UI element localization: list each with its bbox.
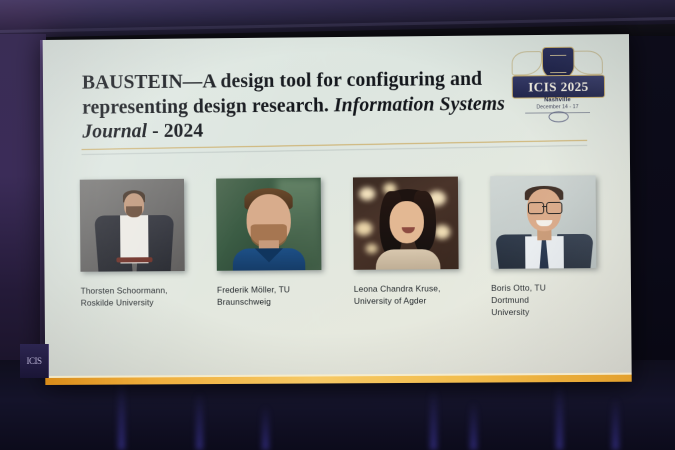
author-name: Leona Chandra Kruse,	[354, 282, 459, 295]
drape-light-streak	[196, 392, 203, 450]
logo-swirl-icon	[548, 111, 568, 122]
logo-banner: ICIS 2025	[512, 75, 605, 99]
logo-flourish-right-icon	[572, 50, 603, 74]
photo-shape	[120, 215, 148, 263]
photo-shape	[528, 202, 544, 214]
title-line-2-italic: Information Systems	[334, 93, 505, 116]
photo-shape	[126, 206, 142, 217]
title-line-3-italic: Journal	[82, 121, 147, 143]
author-caption: Boris Otto, TU Dortmund University	[491, 281, 597, 318]
author-photo	[490, 175, 596, 268]
photo-shape	[355, 221, 372, 235]
title-line-2-plain: representing design research.	[82, 95, 334, 118]
author-card: Leona Chandra Kruse, University of Agder	[353, 177, 459, 307]
photo-scene: BAUSTEIN—A design tool for configuring a…	[0, 0, 675, 450]
icis-conference-logo: ICIS 2025 Nashville December 14 - 17	[511, 46, 603, 121]
author-affiliation: Roskilde University	[81, 296, 185, 309]
photo-shape	[359, 187, 375, 200]
author-row: Thorsten Schoormann, Roskilde University	[80, 175, 597, 364]
drape-light-streak	[118, 380, 125, 450]
slide-title: BAUSTEIN—A design tool for configuring a…	[82, 67, 541, 145]
drape-light-streak	[470, 402, 477, 450]
author-caption: Frederik Möller, TU Braunschweig	[217, 283, 322, 308]
author-card: Boris Otto, TU Dortmund University	[490, 175, 596, 318]
icis-watermark-panel: ICIS	[20, 344, 49, 378]
author-card: Frederik Möller, TU Braunschweig	[216, 178, 322, 308]
slide-canvas: BAUSTEIN—A design tool for configuring a…	[43, 34, 632, 385]
title-line-3-plain: - 2024	[147, 121, 203, 143]
author-photo	[353, 177, 459, 270]
logo-banner-text: ICIS 2025	[528, 78, 589, 95]
logo-flourish-left-icon	[512, 51, 543, 75]
author-affiliation: Braunschweig	[217, 295, 322, 308]
photo-shape	[542, 206, 546, 207]
drape-light-streak	[262, 406, 269, 450]
author-affiliation: University of Agder	[354, 294, 459, 307]
drape-light-streak	[556, 384, 563, 450]
author-affiliation-line2: University	[491, 305, 596, 318]
photo-shape	[434, 225, 450, 239]
author-photo	[216, 178, 321, 271]
photo-shape	[116, 257, 152, 262]
author-name: Boris Otto, TU	[491, 281, 596, 294]
logo-city-text: Nashville	[512, 97, 603, 104]
photo-shape	[546, 202, 562, 214]
author-caption: Thorsten Schoormann, Roskilde University	[81, 284, 185, 309]
title-line-1: BAUSTEIN—A design tool for configuring a…	[82, 69, 482, 94]
logo-date-text: December 14 - 17	[512, 104, 603, 111]
author-photo	[80, 179, 185, 272]
icis-watermark-text: ICIS	[26, 356, 41, 366]
drape-light-streak	[612, 398, 619, 450]
projected-slide: BAUSTEIN—A design tool for configuring a…	[43, 34, 632, 385]
author-name: Frederik Möller, TU	[217, 283, 322, 296]
photo-shape	[376, 249, 441, 270]
author-caption: Leona Chandra Kruse, University of Agder	[354, 282, 459, 307]
divider-shadow-rule	[82, 145, 588, 155]
author-affiliation: Dortmund	[491, 293, 596, 306]
author-name: Thorsten Schoormann,	[81, 284, 185, 297]
drape-light-streak	[430, 388, 437, 450]
photo-shape	[389, 201, 424, 243]
author-card: Thorsten Schoormann, Roskilde University	[80, 179, 185, 309]
photo-shape	[366, 244, 378, 254]
